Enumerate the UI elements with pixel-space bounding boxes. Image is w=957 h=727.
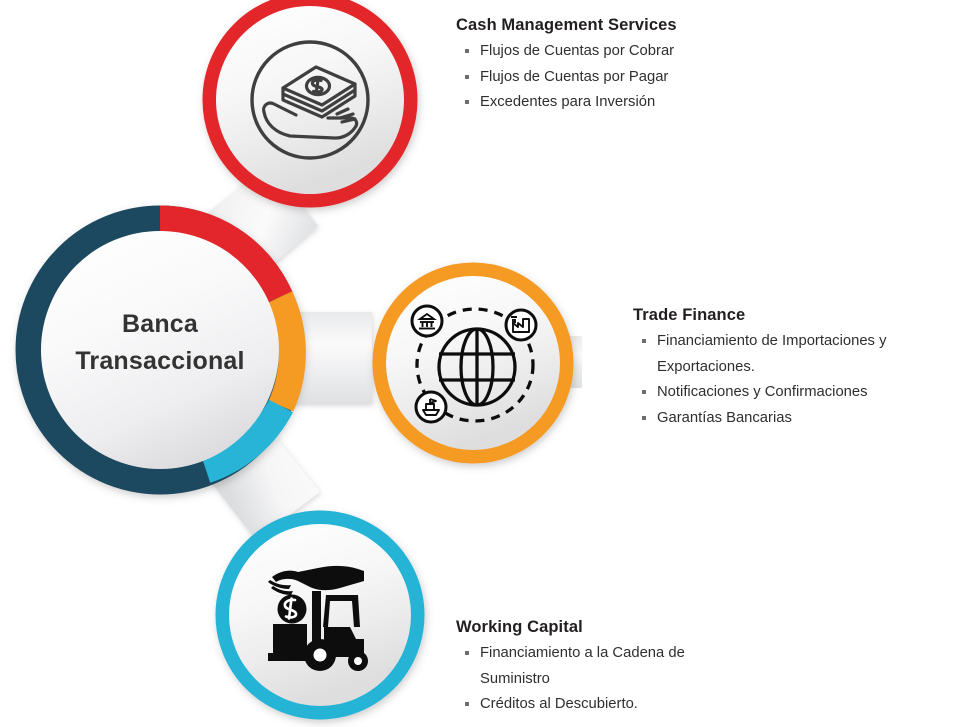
list-item: Financiamiento a la Cadena de <box>456 641 786 666</box>
cash-management-list: Flujos de Cuentas por Cobrar Flujos de C… <box>456 39 786 115</box>
cash-management-text-block: Cash Management Services Flujos de Cuent… <box>456 16 786 116</box>
cash-management-title: Cash Management Services <box>456 16 786 35</box>
diagram-canvas: Banca Transaccional Cash Management Serv… <box>0 0 957 727</box>
bank-badge-icon <box>412 306 442 336</box>
trade-finance-list: Financiamiento de Importaciones y Export… <box>633 329 943 430</box>
node-working-capital[interactable] <box>223 518 417 712</box>
list-item-continuation: Suministro <box>456 667 786 692</box>
node-trade-finance[interactable] <box>380 270 566 456</box>
working-capital-list: Financiamiento a la Cadena de Suministro… <box>456 641 786 717</box>
list-item: Garantías Bancarias <box>633 406 943 431</box>
factory-badge-icon <box>506 310 536 340</box>
list-item: Flujos de Cuentas por Cobrar <box>456 39 786 64</box>
list-item-continuation: Exportaciones. <box>633 355 943 380</box>
working-capital-text-block: Working Capital Financiamiento a la Cade… <box>456 618 786 718</box>
node-cash-management[interactable] <box>210 0 410 200</box>
port-ship-badge-icon <box>416 392 446 422</box>
list-item: Notificaciones y Confirmaciones <box>633 380 943 405</box>
list-item: Flujos de Cuentas por Pagar <box>456 65 786 90</box>
center-ring-arc-orange <box>280 297 292 406</box>
trade-finance-title: Trade Finance <box>633 306 943 325</box>
working-capital-title: Working Capital <box>456 618 786 637</box>
list-item: Financiamiento de Importaciones y <box>633 329 943 354</box>
list-item: Créditos al Descubierto. <box>456 692 786 717</box>
center-disc <box>41 231 279 469</box>
center-node[interactable] <box>29 219 292 481</box>
list-item: Excedentes para Inversión <box>456 90 786 115</box>
trade-finance-text-block: Trade Finance Financiamiento de Importac… <box>633 306 943 431</box>
